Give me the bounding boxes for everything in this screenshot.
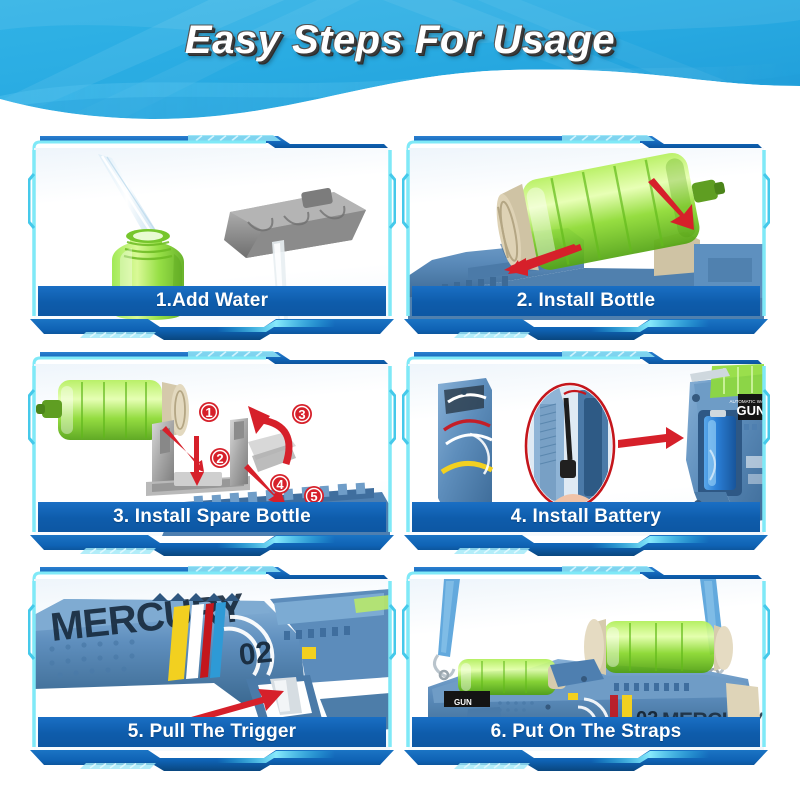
- gun-label-main-6: GUN: [454, 698, 472, 707]
- svg-text:3: 3: [298, 407, 305, 422]
- bottle-rear: [584, 619, 733, 675]
- frame-bottom-4: [402, 534, 770, 560]
- svg-text:2: 2: [216, 451, 223, 466]
- step-card-6: GUN: [402, 565, 770, 775]
- gun-label-main: GUN: [737, 403, 764, 418]
- frame-bottom-5: [28, 749, 396, 775]
- step-caption-4: 4. Install Battery: [412, 502, 760, 532]
- steps-grid: 1.Add Water: [0, 128, 800, 800]
- strap-left: [434, 579, 460, 679]
- step-caption-1: 1.Add Water: [38, 286, 386, 316]
- svg-text:4: 4: [276, 477, 284, 492]
- step-card-3: 1 2 3 4 5 3. Install Spare Bottle: [28, 350, 396, 560]
- step-card-1: 1.Add Water: [28, 134, 396, 344]
- frame-bottom-3: [28, 534, 396, 560]
- step-caption-5: 5. Pull The Trigger: [38, 717, 386, 747]
- arrow-3-head: [248, 406, 270, 434]
- battery-cover: [438, 378, 492, 510]
- decal-number: 02: [237, 636, 274, 672]
- page-title: Easy Steps For Usage: [0, 18, 800, 63]
- frame-bottom-6: [402, 749, 770, 775]
- step-caption-6: 6. Put On The Straps: [412, 717, 760, 747]
- frame-bottom-1: [28, 318, 396, 344]
- step-card-2: 2. Install Bottle: [402, 134, 770, 344]
- step-caption-3: 3. Install Spare Bottle: [38, 502, 386, 532]
- arrow-to-gun: [618, 427, 684, 449]
- frame-bottom-2: [402, 318, 770, 344]
- step-caption-2: 2. Install Bottle: [412, 286, 760, 316]
- step-card-4: AUTOMATIC WATER GUN 4. Install: [402, 350, 770, 560]
- bottle-front: [458, 659, 566, 695]
- svg-text:1: 1: [205, 405, 212, 420]
- page-header: Easy Steps For Usage: [0, 0, 800, 120]
- step-card-5: MERCURY 02: [28, 565, 396, 775]
